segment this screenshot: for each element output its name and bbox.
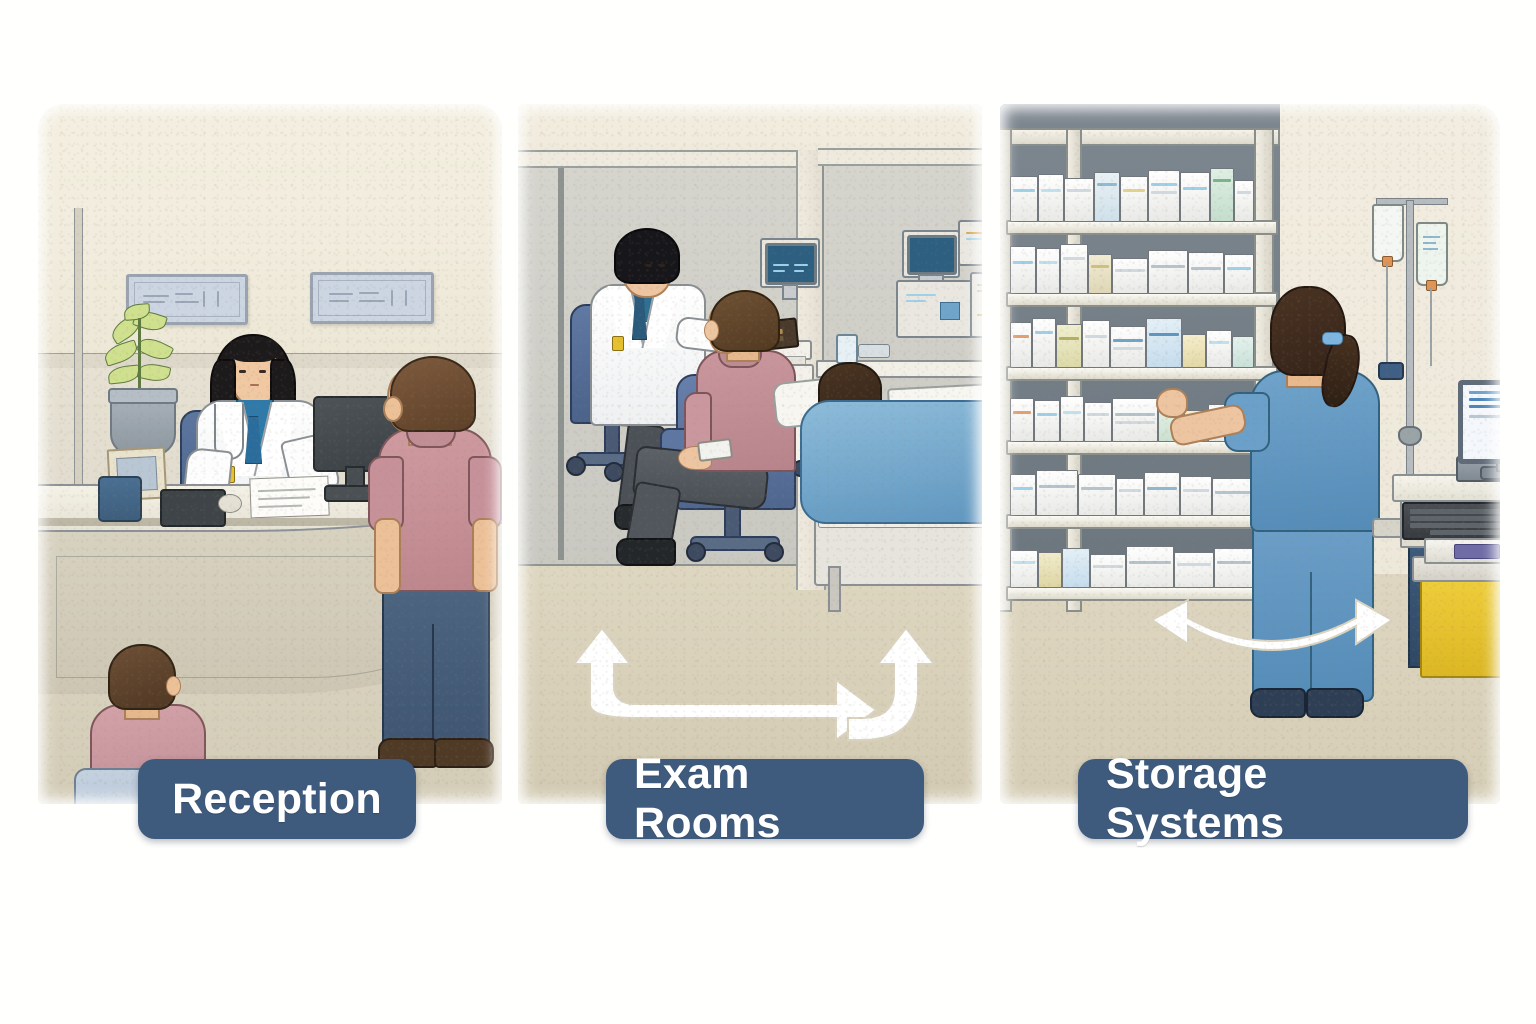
supply-boxes-tier-2 bbox=[1008, 236, 1254, 294]
exam-chair-caster-right bbox=[764, 542, 784, 562]
bed-device-b bbox=[896, 280, 974, 338]
panel-exam-rooms bbox=[518, 104, 982, 804]
stool-caster-left bbox=[566, 456, 586, 476]
exam-door-header-left bbox=[518, 150, 812, 168]
desk-mouse bbox=[218, 494, 242, 513]
wall-plaque-right bbox=[310, 272, 434, 324]
supply-boxes-tier-1 bbox=[1008, 162, 1254, 222]
shelf-tier-5 bbox=[1006, 514, 1278, 529]
iv-clamp bbox=[1378, 362, 1404, 380]
bedside-tray bbox=[858, 344, 890, 358]
caption-label-storage-systems: Storage Systems bbox=[1106, 750, 1440, 848]
shelf-tier-3 bbox=[1006, 366, 1278, 381]
monitor-post bbox=[782, 284, 798, 300]
supply-boxes-tier-5 bbox=[1008, 460, 1254, 516]
iv-tube-right bbox=[1430, 288, 1432, 366]
bed-device-a bbox=[958, 220, 982, 266]
shelf-tier-2 bbox=[1006, 292, 1278, 307]
patient-bed-blanket bbox=[800, 400, 982, 524]
sharps-container bbox=[1420, 570, 1500, 678]
iv-bag-right bbox=[1416, 222, 1448, 286]
supply-boxes-tier-3 bbox=[1008, 308, 1254, 368]
workstation-keyboard bbox=[1402, 502, 1500, 540]
caption-chip-storage-systems[interactable]: Storage Systems bbox=[1078, 759, 1468, 839]
bedside-bottle bbox=[836, 334, 858, 364]
bed-device-c bbox=[970, 272, 982, 338]
panel-reception bbox=[38, 104, 502, 804]
shelf-tier-1 bbox=[1006, 220, 1278, 235]
iv-bag-left bbox=[1372, 204, 1404, 262]
desk-paperwork bbox=[249, 476, 329, 519]
supply-bin-on-top bbox=[1424, 538, 1500, 564]
workstation-mouse bbox=[1398, 426, 1422, 446]
caption-label-exam-rooms: Exam Rooms bbox=[634, 750, 896, 848]
caption-label-reception: Reception bbox=[172, 775, 382, 824]
doorway-mullion bbox=[558, 166, 564, 560]
shelf-tier-6 bbox=[1006, 586, 1278, 601]
exam-door-header-right bbox=[818, 148, 982, 166]
patient-handout-paper bbox=[697, 438, 733, 462]
caption-chip-reception[interactable]: Reception bbox=[138, 759, 416, 839]
bed-leg-left bbox=[828, 566, 841, 612]
iv-tube-left bbox=[1386, 264, 1388, 368]
caption-chip-exam-rooms[interactable]: Exam Rooms bbox=[606, 759, 924, 839]
panel-storage-systems bbox=[1000, 104, 1500, 804]
illustration-canvas: Reception Exam Rooms Storage Systems bbox=[0, 0, 1536, 1024]
desk-card-reader bbox=[98, 476, 142, 522]
bed-monitor-top-screen bbox=[907, 235, 957, 275]
workstation-monitor bbox=[1458, 380, 1500, 464]
supply-boxes-tier-6 bbox=[1008, 534, 1254, 588]
exam-chair-caster-left bbox=[686, 542, 706, 562]
vitals-monitor-screen bbox=[765, 243, 817, 285]
shelving-top-cap bbox=[1000, 128, 1280, 146]
desk-tablet bbox=[160, 489, 226, 527]
